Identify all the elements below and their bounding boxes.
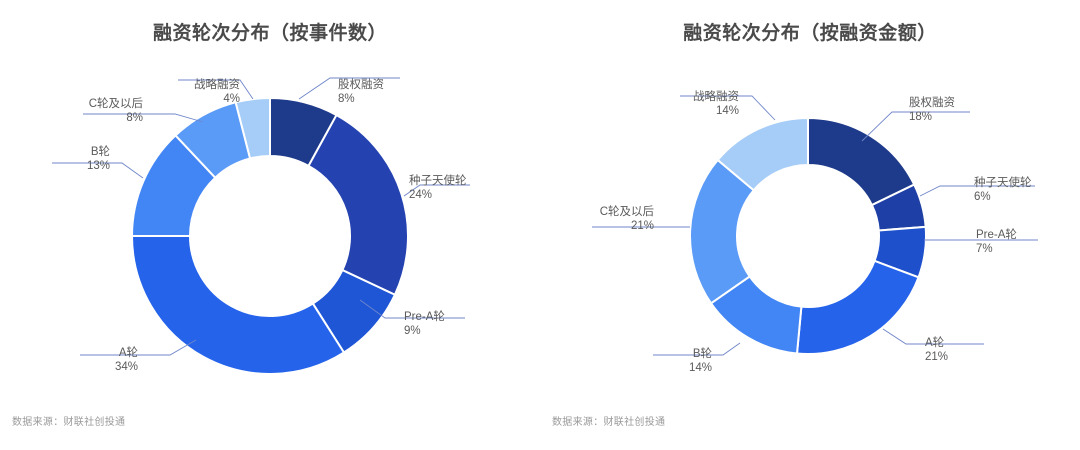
donut-slice[interactable] — [309, 115, 408, 295]
slice-leader-line — [80, 340, 196, 355]
slice-label-percent: 6% — [974, 191, 991, 203]
chart-source-amount: 数据来源：财联社创投通 — [552, 413, 665, 428]
slice-label-percent: 8% — [126, 112, 143, 124]
chart-source-events: 数据来源：财联社创投通 — [12, 413, 125, 428]
slice-label-percent: 14% — [716, 105, 739, 117]
slice-label-percent: 24% — [409, 189, 432, 201]
slice-label-name: B轮 — [693, 346, 713, 360]
slice-label-percent: 4% — [223, 93, 240, 105]
slice-label-percent: 34% — [115, 361, 138, 373]
slice-label-name: 股权融资 — [909, 96, 955, 109]
slice-label-name: Pre-A轮 — [404, 309, 445, 323]
donut-slice[interactable] — [132, 236, 344, 374]
donut-chart-events: 股权融资8%种子天使轮24%Pre-A轮9%A轮34%B轮13%C轮及以后8%战… — [0, 0, 540, 450]
slice-label-percent: 13% — [87, 160, 110, 172]
slice-label-name: B轮 — [91, 144, 111, 158]
slice-label-name: 战略融资 — [194, 77, 240, 91]
slice-label-percent: 9% — [404, 325, 421, 337]
slice-leader-line — [83, 114, 203, 122]
slice-label-percent: 14% — [689, 362, 712, 374]
slice-label-name: 种子天使轮 — [974, 175, 1032, 189]
slice-label-name: C轮及以后 — [600, 204, 654, 218]
chart-panel-events: 融资轮次分布（按事件数） 股权融资8%种子天使轮24%Pre-A轮9%A轮34%… — [0, 0, 540, 450]
charts-container: 融资轮次分布（按事件数） 股权融资8%种子天使轮24%Pre-A轮9%A轮34%… — [0, 0, 1080, 450]
chart-panel-amount: 融资轮次分布（按融资金额） 股权融资18%种子天使轮6%Pre-A轮7%A轮21… — [540, 0, 1080, 450]
slice-label-name: C轮及以后 — [89, 96, 143, 110]
slice-label-name: A轮 — [925, 335, 945, 349]
slice-label-name: 战略融资 — [693, 89, 739, 103]
slice-label-percent: 8% — [338, 93, 355, 105]
slice-label-percent: 21% — [925, 351, 948, 363]
slice-label-percent: 7% — [976, 243, 993, 255]
slice-label-name: Pre-A轮 — [976, 227, 1017, 241]
slice-label-percent: 21% — [631, 220, 654, 232]
donut-chart-amount: 股权融资18%种子天使轮6%Pre-A轮7%A轮21%B轮14%C轮及以后21%… — [540, 0, 1080, 450]
slice-label-name: 股权融资 — [338, 78, 384, 91]
slice-label-percent: 18% — [909, 111, 932, 123]
slice-label-name: 种子天使轮 — [409, 173, 467, 187]
slice-label-name: A轮 — [119, 345, 139, 359]
